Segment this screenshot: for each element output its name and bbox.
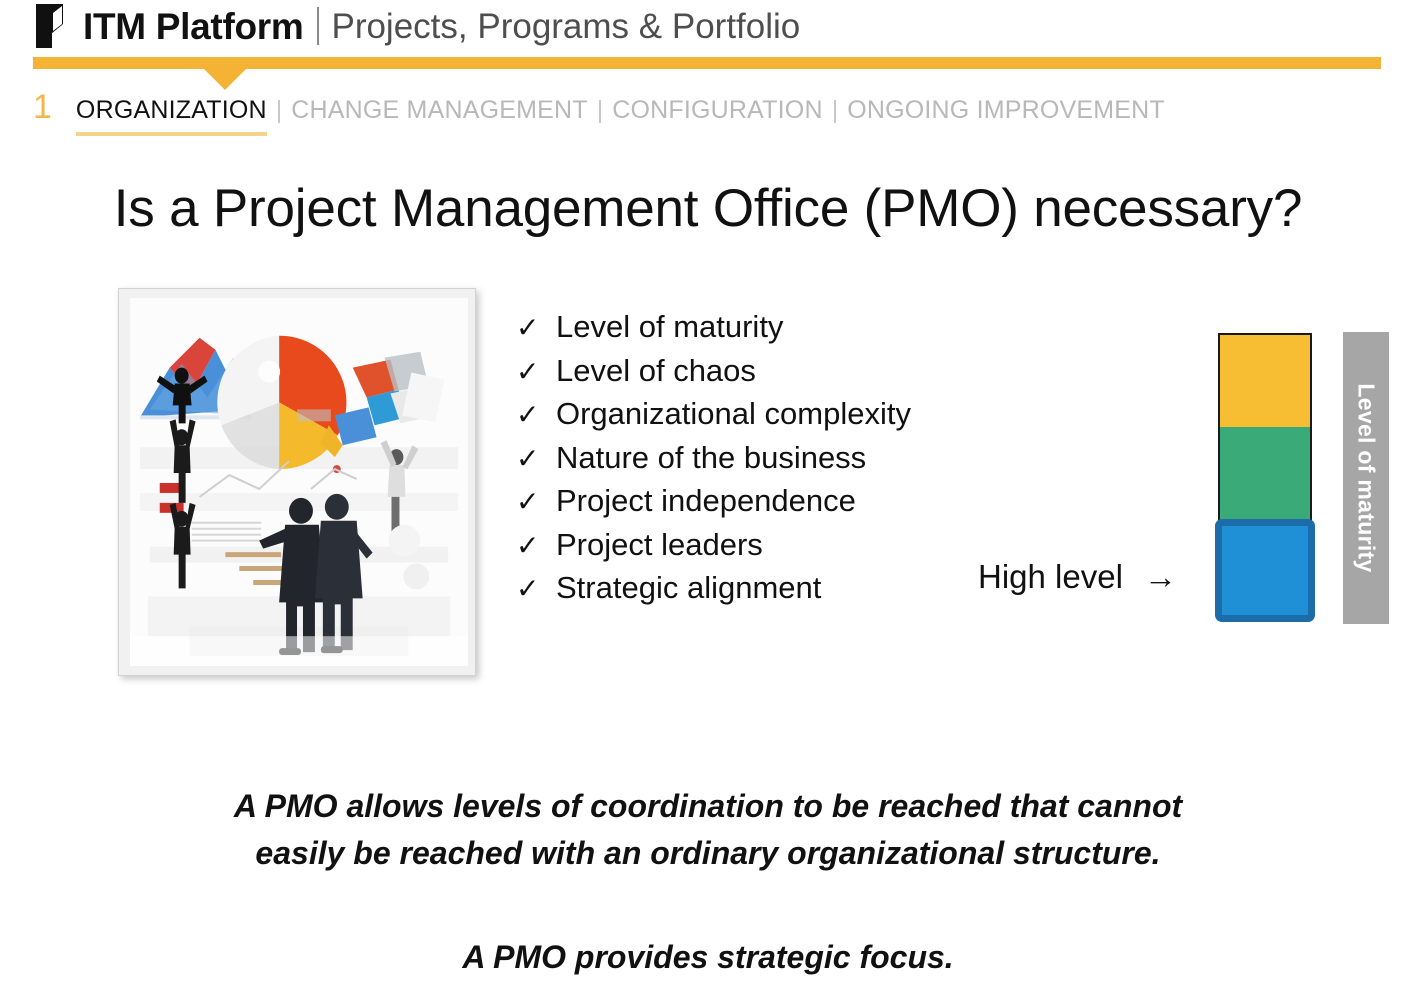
active-section-pointer-icon <box>204 69 246 90</box>
list-item: ✓ Organizational complexity <box>516 398 1036 442</box>
nav-separator: | <box>597 98 604 123</box>
brand-name: ITM Platform <box>83 8 303 45</box>
check-icon: ✓ <box>516 358 556 386</box>
section-nav: 1 ORGANIZATION | CHANGE MANAGEMENT | CON… <box>33 90 1165 136</box>
maturity-segment-selected-low <box>1215 519 1315 622</box>
check-icon: ✓ <box>516 445 556 473</box>
itm-bookmark-logo-icon <box>32 3 74 49</box>
criteria-label: Nature of the business <box>556 442 866 473</box>
maturity-axis-bar: Level of maturity <box>1343 332 1389 624</box>
nav-separator: | <box>276 98 283 123</box>
maturity-level-indicator <box>1218 333 1312 521</box>
nav-item-configuration[interactable]: CONFIGURATION <box>612 98 822 123</box>
nav-step-number: 1 <box>33 90 52 124</box>
nav-item-ongoing-improvement[interactable]: ONGOING IMPROVEMENT <box>847 98 1165 123</box>
business-illustration-photo <box>118 288 476 676</box>
criteria-label: Project leaders <box>556 529 763 560</box>
high-level-label: High level <box>978 558 1123 595</box>
criteria-label: Strategic alignment <box>556 572 821 603</box>
list-item: ✓ Level of maturity <box>516 311 1036 355</box>
criteria-label: Project independence <box>556 485 856 516</box>
statement-primary-line-2: easily be reached with an ordinary organ… <box>0 830 1416 877</box>
statement-secondary: A PMO provides strategic focus. <box>0 934 1416 981</box>
arrow-right-icon: → <box>1144 558 1177 595</box>
list-item: ✓ Project independence <box>516 485 1036 529</box>
check-icon: ✓ <box>516 401 556 429</box>
maturity-segment-medium <box>1218 427 1312 521</box>
criteria-label: Level of maturity <box>556 311 783 342</box>
list-item: ✓ Nature of the business <box>516 442 1036 486</box>
criteria-label: Level of chaos <box>556 355 756 386</box>
maturity-segment-high <box>1218 333 1312 427</box>
brand-divider <box>317 7 319 45</box>
slide-title: Is a Project Management Office (PMO) nec… <box>0 178 1416 239</box>
check-icon: ✓ <box>516 532 556 560</box>
check-icon: ✓ <box>516 575 556 603</box>
footer-statements: A PMO allows levels of coordination to b… <box>0 783 1416 981</box>
list-item: ✓ Level of chaos <box>516 355 1036 399</box>
criteria-label: Organizational complexity <box>556 398 911 429</box>
brand-tagline: Projects, Programs & Portfolio <box>331 9 800 44</box>
list-item: ✓ Strategic alignment <box>516 572 1036 616</box>
check-icon: ✓ <box>516 314 556 342</box>
accent-rule <box>33 57 1381 69</box>
nav-separator: | <box>832 98 839 123</box>
brand-header: ITM Platform Projects, Programs & Portfo… <box>0 0 1416 52</box>
statement-primary-line-1: A PMO allows levels of coordination to b… <box>0 783 1416 830</box>
criteria-list: ✓ Level of maturity ✓ Level of chaos ✓ O… <box>516 311 1036 616</box>
teamwork-charts-graphic <box>130 298 468 666</box>
nav-item-organization[interactable]: ORGANIZATION <box>76 98 267 136</box>
photo-inner <box>130 298 468 666</box>
nav-item-change-management[interactable]: CHANGE MANAGEMENT <box>291 98 587 123</box>
list-item: ✓ Project leaders <box>516 529 1036 573</box>
check-icon: ✓ <box>516 488 556 516</box>
maturity-axis-label: Level of maturity <box>1353 383 1380 572</box>
high-level-callout: High level → <box>978 560 1177 593</box>
